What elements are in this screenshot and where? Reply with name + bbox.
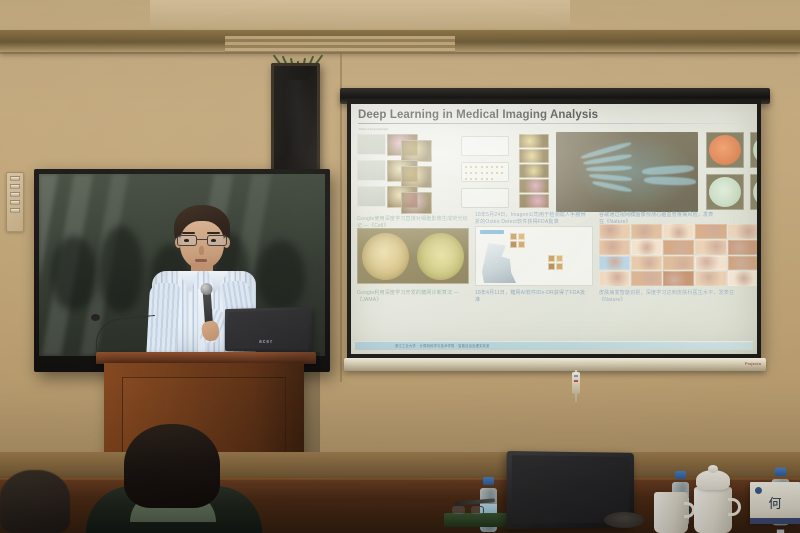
wall-speaker	[271, 63, 320, 183]
network-node-dots	[463, 164, 507, 186]
retinal-fundus-disc	[709, 135, 741, 165]
panel-header-bar	[480, 230, 504, 234]
skin-lesion-thumbnail	[695, 271, 726, 286]
prediction-strip-cell	[519, 149, 549, 163]
skin-lesion-thumbnail	[599, 271, 630, 286]
tissue-swatch	[556, 263, 563, 270]
micrograph-caption: Phase of transmitted light	[359, 128, 388, 131]
eyeglasses-on-table[interactable]	[452, 506, 486, 517]
prediction-strip-cell	[519, 134, 549, 148]
tea-cup-lid[interactable]	[696, 470, 730, 490]
micrograph-output-tile	[401, 140, 432, 162]
presenter-mouth	[195, 259, 207, 262]
skin-lesion-thumbnail	[599, 224, 630, 239]
fundus-healthy-label: A. Healthy	[362, 284, 409, 288]
caption-diabetic-retinopathy: Google利用深度学习开发的糖网诊断算法 —《JAMA》	[357, 290, 469, 305]
lidded-tea-cup[interactable]	[694, 470, 732, 533]
eyeglass-bridge	[197, 239, 207, 240]
ceiling-recess	[150, 0, 570, 34]
retinal-fundus-disc	[753, 135, 757, 165]
acer-logo: acer	[259, 339, 273, 345]
skin-lesion-thumbnail	[599, 240, 630, 255]
tissue-swatch	[548, 263, 555, 270]
prediction-strip-column	[519, 134, 551, 212]
micrograph-output-tile	[401, 166, 432, 188]
slide-footer-bar: 浙江工业大学 · 计算机科学与技术学院 · 智能信息处理实验室	[355, 341, 753, 350]
screen-brand-label: Projecta	[745, 361, 761, 366]
skin-lesion-thumbnail	[728, 240, 757, 255]
micrograph-input-tile	[357, 134, 386, 155]
tissue-swatch	[556, 255, 563, 262]
light-switch-rocker[interactable]	[10, 192, 20, 197]
tissue-swatch	[510, 233, 517, 240]
remote-up-button[interactable]	[574, 375, 578, 377]
name-placard: 何	[750, 482, 800, 524]
skin-lesion-thumbnail	[663, 224, 694, 239]
skin-lesion-thumbnail	[663, 240, 694, 255]
prediction-strip-cell	[519, 194, 549, 208]
micrograph-input-tile	[357, 160, 386, 181]
retinal-fundus-cell	[706, 132, 744, 168]
micrograph-output-tile	[401, 192, 432, 214]
skin-lesion-thumbnail	[663, 271, 694, 286]
hand-wrist-xray-image	[556, 132, 698, 212]
light-switch-panel[interactable]	[6, 172, 24, 232]
screen-control-remote[interactable]	[572, 372, 580, 394]
title-underline	[358, 123, 750, 124]
light-switch-rocker[interactable]	[10, 208, 20, 213]
placard-name: 何	[750, 493, 800, 512]
bottle-cap[interactable]	[675, 471, 686, 479]
skin-lesion-thumbnail	[728, 271, 757, 286]
wall-seam-upper	[0, 52, 800, 54]
caption-wrist-fracture: 18年5月24日，Imagen公司用于检测成人手腕骨折的Osteo Detect…	[475, 212, 587, 227]
presentation-photo-scene: Deep Learning in Medical Imaging Analysi…	[0, 0, 800, 533]
skin-lesion-thumbnail	[631, 224, 662, 239]
skin-lesion-thumbnail	[631, 271, 662, 286]
gooseneck-microphone-head	[91, 314, 100, 321]
presenter-brow-left	[182, 232, 195, 234]
bottle-cap[interactable]	[483, 477, 494, 485]
micrograph-input-tile	[357, 186, 386, 207]
skin-lesion-thumbnail	[695, 240, 726, 255]
retinal-fundus-cell	[750, 174, 757, 210]
retinal-fundus-cell	[706, 174, 744, 210]
neural-network-diagram	[455, 132, 515, 212]
light-switch-rocker[interactable]	[10, 184, 20, 189]
skin-lesion-thumbnail	[599, 256, 630, 271]
remote-stop-button[interactable]	[574, 380, 578, 382]
laptop-lid: acer	[225, 307, 312, 353]
tissue-swatch	[548, 255, 555, 262]
slide-content: Deep Learning in Medical Imaging Analysi…	[351, 104, 757, 354]
prediction-strip-cell	[519, 164, 549, 178]
microscope-ui-panel	[475, 226, 593, 286]
presenter-eye-right	[211, 239, 216, 242]
retinal-fundus-disc	[709, 177, 741, 207]
presenter-eye-left	[184, 239, 189, 242]
projector-screen-bottom-bar[interactable]: Projecta	[344, 358, 766, 371]
fundus-comparison-pair: A. Healthy B. Diseased	[357, 228, 469, 284]
retinal-fundus-grid	[706, 132, 757, 214]
microscope-illustration	[482, 243, 516, 283]
cup-saucer	[604, 512, 644, 528]
tissue-swatch	[518, 233, 525, 240]
podium-laptop[interactable]: acer	[218, 308, 310, 356]
skin-lesion-image-grid	[599, 224, 757, 286]
slide-title: Deep Learning in Medical Imaging Analysi…	[358, 109, 750, 121]
retinal-fundus-cell	[750, 132, 757, 168]
skin-lesion-thumbnail	[631, 256, 662, 271]
fundus-healthy-image	[362, 233, 409, 280]
network-layer-box	[461, 136, 509, 156]
network-layer-box	[461, 188, 509, 208]
projection-screen: Deep Learning in Medical Imaging Analysi…	[347, 100, 761, 358]
tissue-swatch	[518, 241, 525, 248]
eyeglass-lens-right	[207, 235, 227, 246]
placard-base-bar	[750, 518, 800, 524]
retinal-fundus-disc	[753, 177, 757, 207]
skin-lesion-thumbnail	[631, 240, 662, 255]
presenter-nose	[199, 246, 204, 255]
ceiling-vent-slats	[225, 36, 455, 52]
tv-reflected-silhouette	[51, 236, 97, 310]
fluorescence-micrograph-cluster: Phase of transmitted light	[357, 134, 449, 209]
audience-head-front	[124, 424, 220, 508]
skin-lesion-thumbnail	[695, 256, 726, 271]
fundus-diseased-label: B. Diseased	[417, 284, 464, 288]
light-switch-rocker[interactable]	[10, 200, 20, 205]
bottle-cap[interactable]	[775, 468, 787, 476]
skin-lesion-thumbnail	[728, 224, 757, 239]
skin-lesion-thumbnail	[728, 256, 757, 271]
light-switch-rocker[interactable]	[10, 176, 20, 181]
fundus-diseased-image	[417, 233, 464, 280]
tea-cup-lid-knob[interactable]	[708, 465, 718, 473]
desk-glasses-lens-right	[471, 506, 484, 515]
skin-lesion-thumbnail	[695, 224, 726, 239]
presenter-brow-right	[207, 232, 220, 234]
desk-glasses-lens-left	[452, 506, 465, 515]
tv-reflected-silhouette	[99, 226, 143, 312]
skin-lesion-thumbnail	[663, 256, 694, 271]
caption-skin-ai: 18年4月11日，糖网AI软件IDx-DR获得了FDA批准	[475, 290, 587, 305]
prediction-strip-cell	[519, 179, 549, 193]
audience-head-left	[0, 470, 70, 533]
caption-derm-grid: 皮肤病变智能识别，深度学习达到皮肤科医生水平，发表在《Nature》	[599, 290, 749, 305]
tissue-swatch	[510, 241, 517, 248]
ceramic-mug[interactable]	[654, 492, 688, 533]
